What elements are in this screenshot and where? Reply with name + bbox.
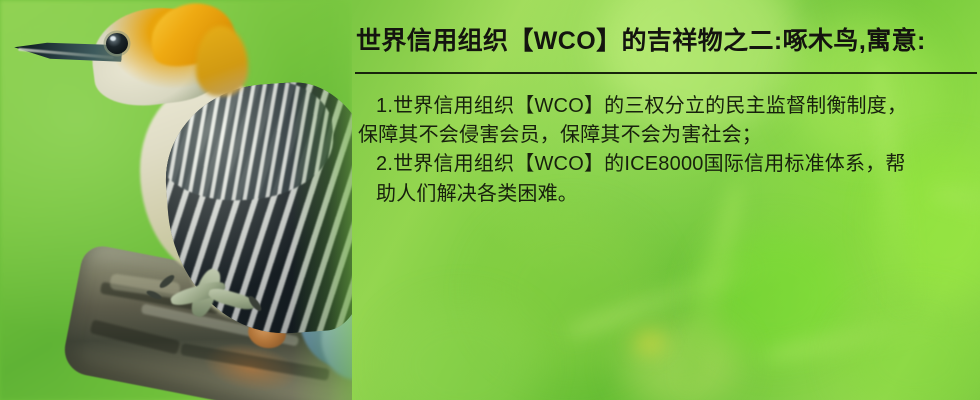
body-line-1: 1.世界信用组织【WCO】的三权分立的民主监督制衡制度， — [358, 92, 978, 121]
body-line-4: 助人们解决各类困难。 — [358, 180, 978, 209]
photo-edge-fade — [292, 0, 352, 400]
bird-eye — [106, 33, 128, 54]
banner-body: 1.世界信用组织【WCO】的三权分立的民主监督制衡制度， 保障其不会侵害会员，保… — [358, 92, 978, 209]
banner-text-column: 世界信用组织【WCO】的吉祥物之二:啄木鸟,寓意: 1.世界信用组织【WCO】的… — [352, 0, 980, 400]
body-line-3: 2.世界信用组织【WCO】的ICE8000国际信用标准体系，帮 — [358, 150, 978, 179]
wco-mascot-banner: 世界信用组织【WCO】的吉祥物之二:啄木鸟,寓意: 1.世界信用组织【WCO】的… — [0, 0, 980, 400]
woodpecker-photo — [0, 0, 352, 400]
banner-title: 世界信用组织【WCO】的吉祥物之二:啄木鸟,寓意: — [356, 26, 926, 56]
body-line-2: 保障其不会侵害会员，保障其不会为害社会； — [358, 121, 978, 150]
title-divider — [355, 72, 977, 74]
bird-eye-glint — [110, 36, 116, 41]
